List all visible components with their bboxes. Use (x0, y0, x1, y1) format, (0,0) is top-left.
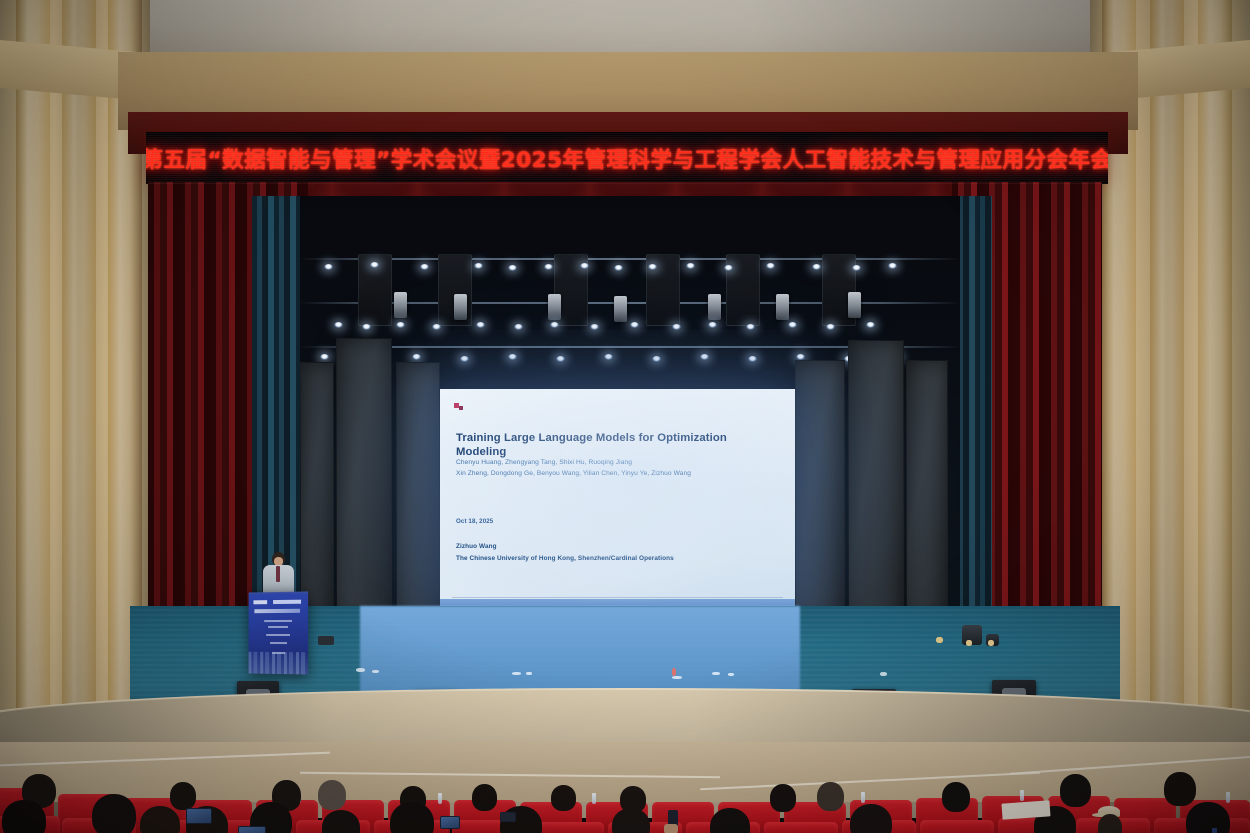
spotlight (700, 354, 709, 360)
slide-speaker-block: Zizhuo Wang The Chinese University of Ho… (456, 541, 786, 565)
floor-marker (728, 673, 734, 676)
slide-authors-line-1: Chenyu Huang, Zhengyang Tang, Shixi Hu, … (456, 457, 781, 468)
water-bottle (1020, 790, 1024, 801)
audience-head (817, 782, 844, 811)
floor-stage-light-lens (988, 640, 994, 646)
acoustic-panel (396, 362, 440, 626)
lanyard (1212, 828, 1217, 833)
audience-head (1164, 772, 1196, 806)
slide-logo-mark (454, 403, 463, 411)
audience-head (170, 782, 196, 810)
stage-light-fixture (776, 294, 789, 320)
spotlight (748, 356, 757, 362)
acoustic-panel (906, 360, 948, 622)
spotlight (362, 324, 371, 330)
led-banner-text: 第五届“数据智能与管理”学术会议暨2025年管理科学与工程学会人工智能技术与管理… (146, 143, 1108, 174)
audience-head (1098, 814, 1122, 833)
water-bottle (438, 793, 442, 804)
floor-stage-light-lens (966, 640, 972, 646)
audience-section (0, 742, 1250, 833)
stage-light-fixture (394, 292, 407, 318)
speaker-podium (249, 591, 309, 674)
spotlight (432, 324, 441, 330)
acoustic-panel (336, 338, 392, 630)
spotlight (766, 263, 775, 269)
podium-top-surface (249, 591, 309, 594)
spotlight (324, 264, 333, 270)
spotlight (412, 354, 421, 360)
presentation-slide: Training Large Language Models for Optim… (440, 389, 795, 611)
projection-screen: Training Large Language Models for Optim… (440, 389, 795, 611)
water-bottle (1226, 792, 1230, 803)
spotlight (476, 322, 485, 328)
podium-subtitle (268, 626, 288, 628)
stage-light-fixture (454, 294, 467, 320)
spotlight (320, 354, 329, 360)
hand (664, 824, 678, 833)
water-bottle (592, 793, 596, 804)
spotlight (370, 262, 379, 268)
spotlight (866, 322, 875, 328)
spotlight (648, 264, 657, 270)
spotlight (514, 324, 523, 330)
stage-light-fixture (548, 294, 561, 320)
spotlight (826, 324, 835, 330)
spotlight (508, 265, 517, 271)
audience-head (472, 784, 497, 811)
led-banner: 第五届“数据智能与管理”学术会议暨2025年管理科学与工程学会人工智能技术与管理… (146, 132, 1108, 184)
spotlight (544, 264, 553, 270)
spotlight (686, 263, 695, 269)
spotlight (590, 324, 599, 330)
audience-head (551, 785, 576, 811)
slide-speaker-name: Zizhuo Wang (456, 541, 786, 553)
floor-marker (672, 676, 682, 679)
ceiling (0, 0, 1250, 58)
slide-date: Oct 18, 2025 (456, 518, 493, 525)
spotlight (852, 265, 861, 271)
spotlight (812, 264, 821, 270)
acoustic-panel (795, 360, 845, 626)
floor-marker (672, 668, 676, 676)
stage-light-fixture (848, 292, 861, 318)
spotlight (474, 263, 483, 269)
slide-affiliation: The Chinese University of Hong Kong, She… (456, 553, 786, 565)
podium-logo-band (253, 600, 301, 605)
spotlight (556, 356, 565, 362)
stage-light-fixture (614, 296, 627, 322)
truss-bar (300, 258, 960, 260)
floor-stage-light (962, 625, 982, 645)
audience-head (140, 806, 180, 833)
podium-subtitle (270, 642, 287, 644)
audience-head (2, 800, 46, 833)
audience-head (1060, 774, 1091, 807)
slide-authors: Chenyu Huang, Zhengyang Tang, Shixi Hu, … (456, 457, 781, 480)
spotlight (550, 322, 559, 328)
spotlight (708, 322, 717, 328)
audience-head (318, 780, 346, 810)
spotlight (652, 356, 661, 362)
spotlight (334, 322, 343, 328)
auditorium-photo: 第五届“数据智能与管理”学术会议暨2025年管理科学与工程学会人工智能技术与管理… (0, 0, 1250, 833)
spotlight (672, 324, 681, 330)
slide-footer-rule (452, 597, 783, 598)
floor-stage-light-lens (936, 637, 943, 643)
slide-authors-line-2: Xin Zheng, Dongdong Ge, Benyou Wang, Yil… (456, 468, 781, 479)
spotlight (746, 324, 755, 330)
floor-marker (372, 670, 379, 673)
podium-subtitle (266, 634, 290, 636)
slide-title: Training Large Language Models for Optim… (456, 432, 776, 459)
spotlight (630, 322, 639, 328)
floor-marker (880, 672, 887, 676)
seat (764, 822, 838, 833)
floor-marker (712, 672, 720, 675)
audience-head (390, 802, 434, 833)
acoustic-panel (848, 340, 904, 628)
spotlight (604, 354, 613, 360)
podium-title-band (254, 609, 300, 613)
audience-head (612, 808, 650, 833)
podium-skyline-graphic (249, 652, 309, 675)
spotlight (508, 354, 517, 360)
smartphone (238, 826, 266, 833)
audience-head (770, 784, 796, 812)
acoustic-panel (300, 362, 334, 626)
smartphone (186, 808, 212, 824)
seat (920, 820, 994, 833)
spotlight (396, 322, 405, 328)
smartphone (440, 816, 460, 829)
spotlight (420, 264, 429, 270)
floor-marker (356, 668, 365, 672)
spotlight (580, 263, 589, 269)
spotlight (724, 265, 733, 271)
floor-marker (526, 672, 532, 675)
presenter-lanyard (276, 566, 280, 582)
spotlight (888, 263, 897, 269)
podium-subtitle (264, 620, 292, 622)
spotlight (614, 265, 623, 271)
audience-head (942, 782, 970, 812)
smartphone (500, 812, 516, 822)
spotlight (460, 356, 469, 362)
audience-head (92, 794, 136, 833)
audience-head (1186, 802, 1230, 833)
floor-marker (512, 672, 521, 675)
water-bottle (861, 792, 865, 803)
audience-head (850, 804, 892, 833)
paper-handout (1002, 800, 1051, 819)
floor-cable-box (318, 636, 334, 645)
spotlight (788, 322, 797, 328)
stage-light-fixture (708, 294, 721, 320)
